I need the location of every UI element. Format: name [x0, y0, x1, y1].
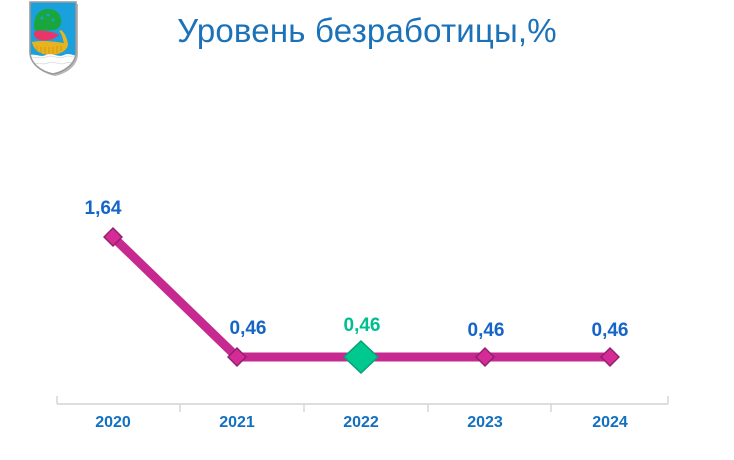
x-axis-label-2024: 2024 — [592, 414, 628, 432]
line-chart — [0, 0, 734, 460]
marker-2022[interactable] — [344, 341, 378, 373]
data-label-2023: 0,46 — [468, 320, 505, 342]
chart-canvas — [0, 0, 734, 460]
x-axis-label-2022: 2022 — [343, 414, 379, 432]
x-axis-label-2023: 2023 — [467, 414, 503, 432]
data-label-2022: 0,46 — [344, 315, 381, 337]
x-axis-label-2021: 2021 — [219, 414, 255, 432]
marker-2023[interactable] — [476, 348, 494, 366]
data-label-2021: 0,46 — [230, 318, 267, 340]
x-axis-label-2020: 2020 — [95, 414, 131, 432]
data-label-2020: 1,64 — [85, 198, 122, 220]
data-label-2024: 0,46 — [592, 320, 629, 342]
x-axis — [57, 396, 668, 412]
marker-2024[interactable] — [601, 348, 619, 366]
series-line-unemployment — [113, 237, 610, 357]
